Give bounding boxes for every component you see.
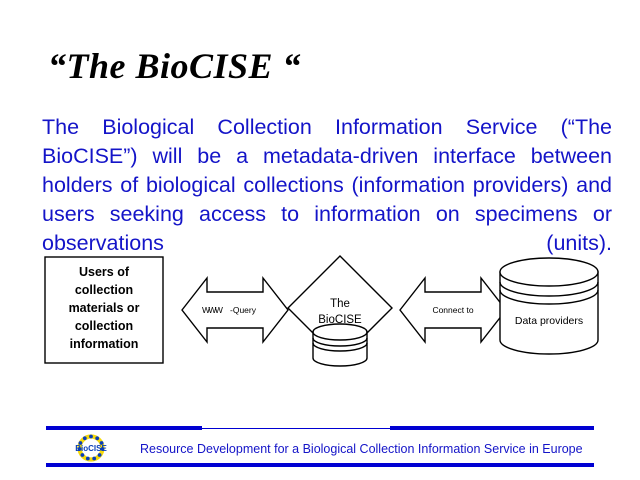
- users-box-line-1: Users of: [79, 265, 130, 279]
- arrow-connect-label: Connect to: [432, 305, 473, 315]
- users-box-line-3: materials or: [69, 301, 140, 315]
- diamond-line-1: The: [330, 298, 350, 310]
- footer-rule-top: [46, 426, 594, 431]
- arrow-www-label: WWW: [202, 305, 223, 315]
- biocise-database-cylinder-icon: [313, 324, 367, 366]
- users-box: Users of collection materials or collect…: [45, 257, 163, 363]
- users-box-line-5: information: [70, 337, 139, 351]
- footer-rule-top-right-thick: [390, 426, 594, 430]
- footer-rule-top-left-thick: [46, 426, 202, 430]
- arrow-www-query-icon: WWW -Query: [182, 278, 288, 342]
- arrow-query-label: -Query: [230, 305, 257, 315]
- page-title: “The BioCISE “: [48, 45, 301, 87]
- logo-text: BioCISE: [75, 444, 107, 453]
- arrow-connect-to-icon: Connect to: [400, 278, 506, 342]
- footer-rule-top-middle-thin: [202, 428, 390, 429]
- data-providers-cylinder-icon: Data providers: [500, 258, 598, 354]
- users-box-line-2: collection: [75, 283, 133, 297]
- footer-caption: Resource Development for a Biological Co…: [140, 442, 583, 456]
- data-providers-label: Data providers: [515, 315, 583, 327]
- users-box-line-4: collection: [75, 319, 133, 333]
- footer-rule-bottom: [46, 463, 594, 467]
- biocise-logo-icon: BioCISE: [68, 432, 114, 464]
- process-diagram: Users of collection materials or collect…: [0, 250, 640, 378]
